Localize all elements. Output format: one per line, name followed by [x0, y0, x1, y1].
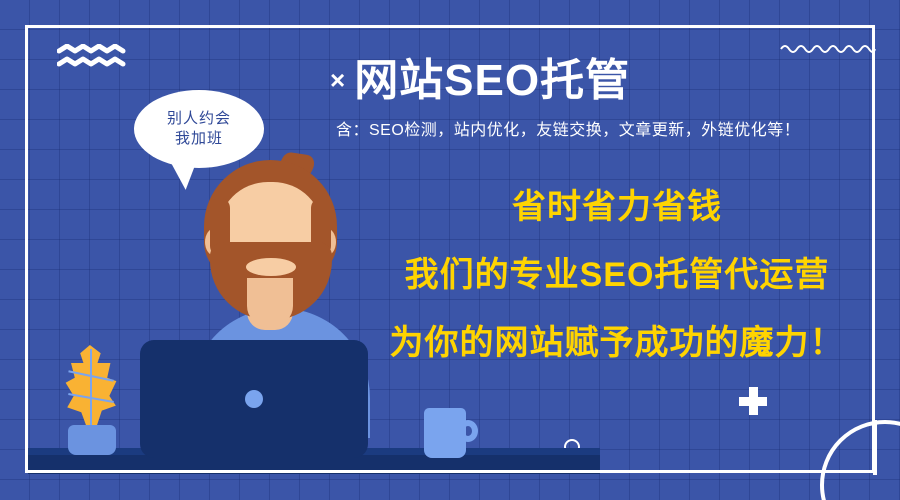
person-mouth: [246, 258, 296, 276]
speech-bubble-line-2: 我加班: [175, 129, 223, 149]
laptop: [140, 340, 368, 458]
seo-promo-banner: 别人约会 我加班 ×网站SEO托管 含：SEO检测，站内优化，友链交换，文章更新…: [0, 0, 900, 500]
plus-icon: [739, 387, 767, 415]
page-title: ×网站SEO托管: [330, 44, 750, 108]
wavy-line-icon: [780, 42, 876, 54]
plant-pot: [68, 425, 116, 455]
slogan-line-1: 省时省力省钱: [362, 190, 872, 224]
corner-vertical-line: [873, 420, 877, 475]
title-bullet-icon: ×: [330, 65, 346, 95]
slogan-line-3: 为你的网站赋予成功的魔力！: [362, 326, 872, 360]
title-text: 网站SEO托管: [354, 56, 630, 105]
wave-lines-icon: [57, 44, 127, 70]
speech-bubble: 别人约会 我加班: [134, 90, 264, 168]
coffee-mug: [424, 408, 480, 458]
slogan-line-2: 我们的专业SEO托管代运营: [362, 258, 872, 292]
speech-bubble-line-1: 别人约会: [167, 109, 231, 129]
slogan-list: 省时省力省钱 我们的专业SEO托管代运营 为你的网站赋予成功的魔力！: [362, 190, 872, 360]
corner-circle-icon: [820, 420, 900, 500]
person-neck-front: [247, 278, 293, 326]
subtitle: 含：SEO检测，站内优化，友链交换，文章更新，外链优化等！: [336, 116, 886, 140]
mug-body: [424, 408, 466, 458]
plant-leaf-vein: [90, 349, 92, 429]
laptop-logo-icon: [245, 390, 263, 408]
plant: [52, 345, 128, 457]
